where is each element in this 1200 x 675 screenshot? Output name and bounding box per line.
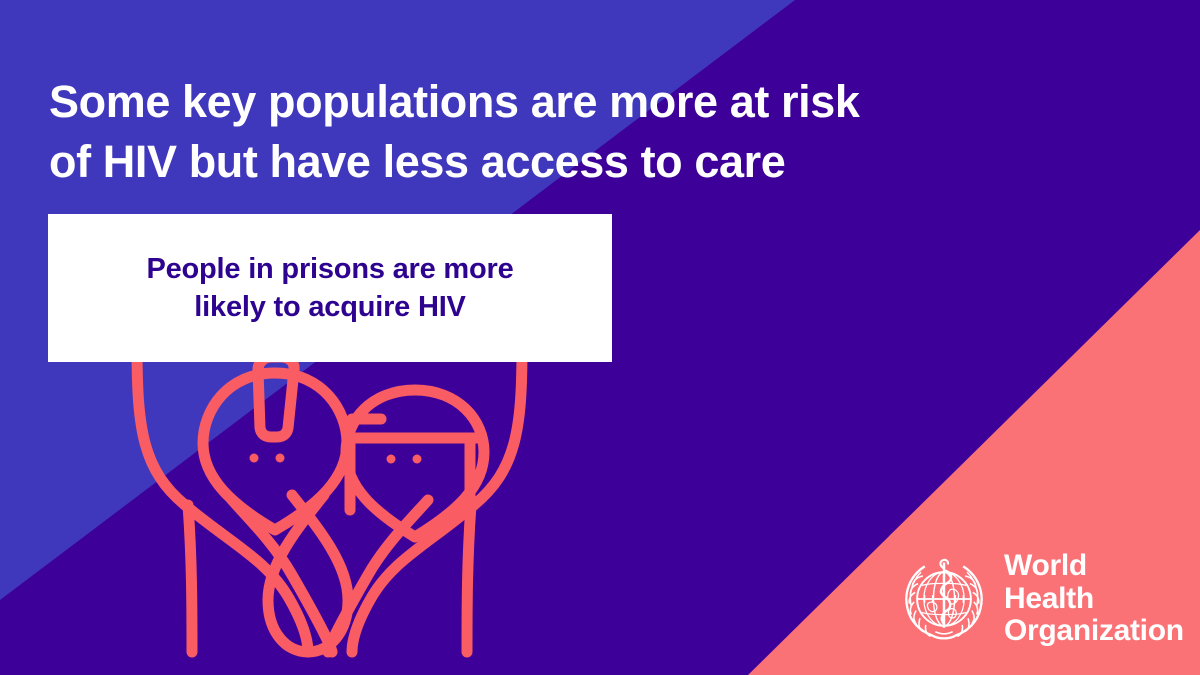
who-emblem-icon: [896, 551, 992, 647]
caption-card: People in prisons are more likely to acq…: [48, 214, 612, 362]
who-logo: World Health Organization: [896, 551, 1164, 647]
page-title: Some key populations are more at risk of…: [49, 72, 1109, 192]
caption-card-text: People in prisons are more likely to acq…: [146, 250, 513, 327]
who-wordmark: World Health Organization: [1004, 550, 1184, 647]
infographic-canvas: Some key populations are more at risk of…: [0, 0, 1200, 675]
